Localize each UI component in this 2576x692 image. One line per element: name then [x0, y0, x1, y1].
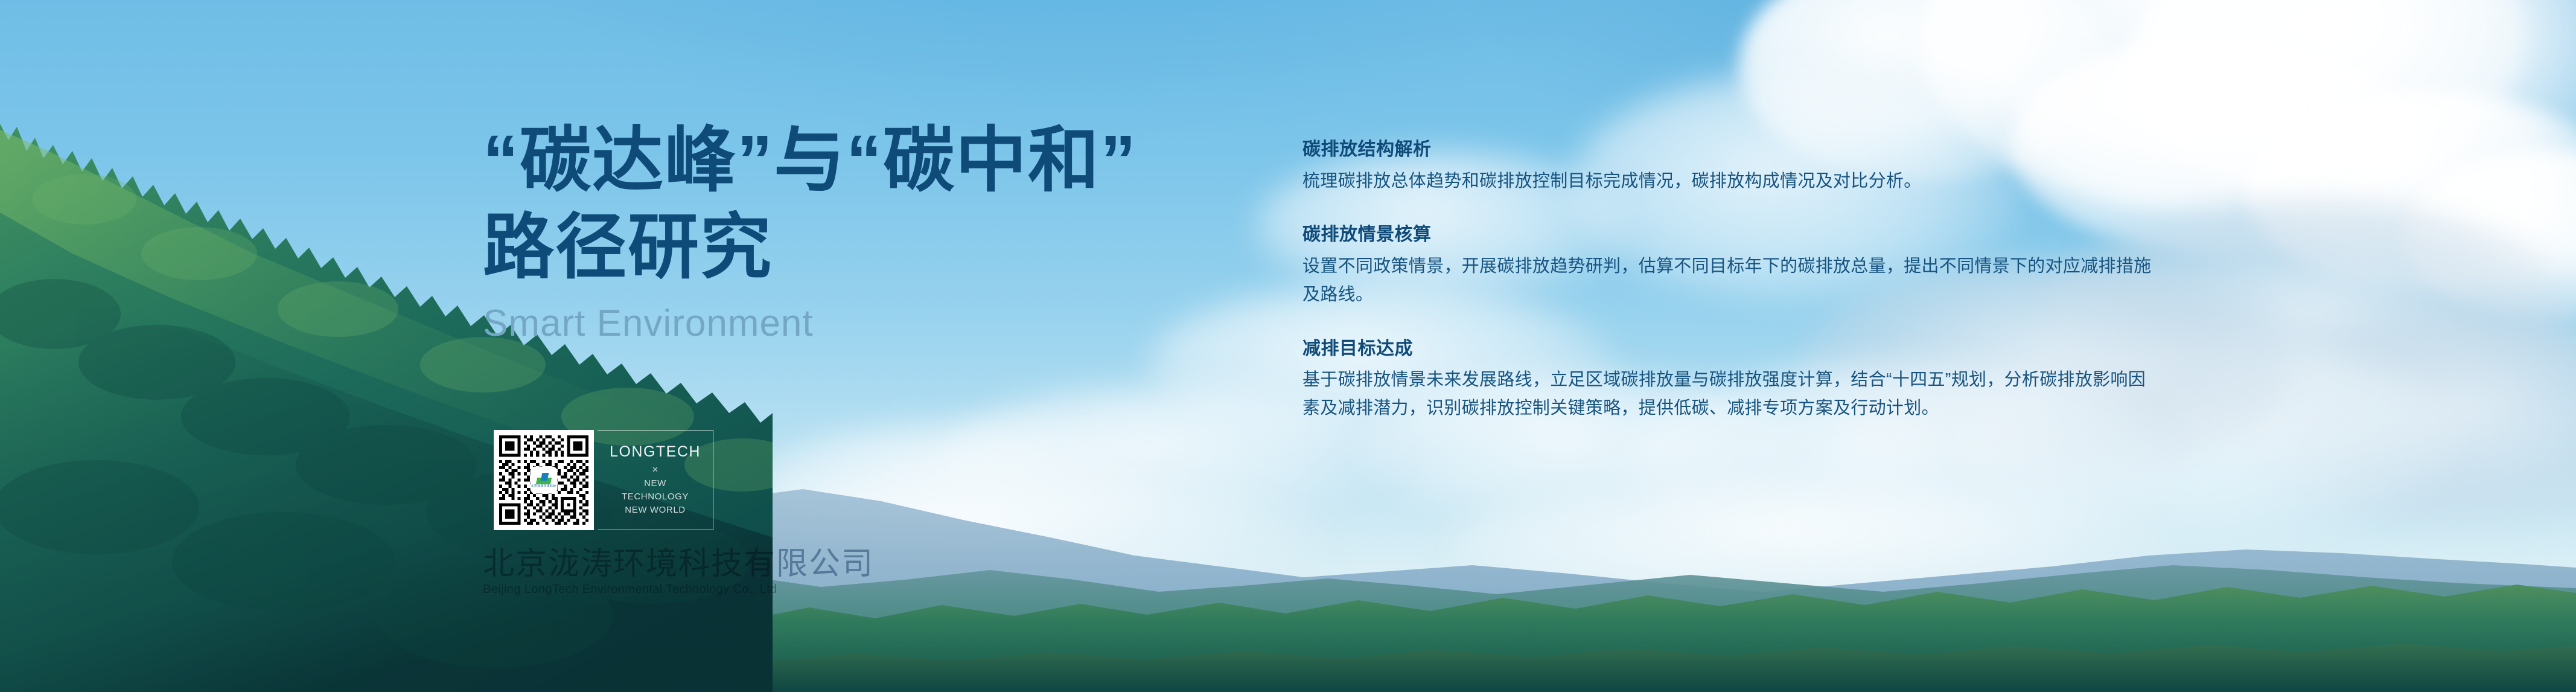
watermark-en: Beijing LongTech Environmental Technolog…	[483, 583, 874, 596]
info-body: 梳理碳排放总体趋势和碳排放控制目标完成情况，碳排放构成情况及对比分析。	[1302, 167, 2160, 196]
title-line-1: “碳达峰”与“碳中和”	[483, 118, 1219, 205]
slogan-panel: LONGTECH × NEW TECHNOLOGY NEW WORLD	[598, 430, 713, 530]
watermark-cn: 北京泷涛环境科技有限公司	[483, 548, 874, 580]
slogan-sub-3: NEW WORLD	[625, 505, 685, 516]
hero-banner: “碳达峰”与“碳中和” 路径研究 Smart Environment	[0, 0, 2576, 692]
slogan-cross-icon: ×	[652, 464, 658, 475]
title-line-2: 路径研究	[483, 205, 1219, 292]
title-subtitle: Smart Environment	[483, 305, 1219, 342]
company-watermark: 北京泷涛环境科技有限公司 Beijing LongTech Environmen…	[483, 548, 874, 596]
qr-code[interactable]: 北京泷涛环境科技	[494, 430, 594, 530]
info-heading: 碳排放结构解析	[1302, 138, 2160, 162]
longtech-logo-icon	[537, 473, 551, 484]
qr-logo-text-cn: 北京泷涛环境科技	[531, 484, 556, 488]
page-title: “碳达峰”与“碳中和” 路径研究 Smart Environment	[483, 118, 1219, 342]
info-heading: 减排目标达成	[1302, 337, 2160, 362]
qr-center-logo: 北京泷涛环境科技	[531, 467, 556, 493]
slogan-brand: LONGTECH	[610, 444, 701, 460]
slogan-sub-1: NEW	[644, 478, 666, 489]
info-item: 减排目标达成 基于碳排放情景未来发展路线，立足区域碳排放量与碳排放强度计算，结合…	[1302, 337, 2160, 423]
info-column: 碳排放结构解析 梳理碳排放总体趋势和碳排放控制目标完成情况，碳排放构成情况及对比…	[1302, 138, 2160, 423]
info-body: 基于碳排放情景未来发展路线，立足区域碳排放量与碳排放强度计算，结合“十四五”规划…	[1302, 366, 2160, 423]
info-body: 设置不同政策情景，开展碳排放趋势研判，估算不同目标年下的碳排放总量，提出不同情景…	[1302, 252, 2160, 309]
info-item: 碳排放情景核算 设置不同政策情景，开展碳排放趋势研判，估算不同目标年下的碳排放总…	[1302, 223, 2160, 309]
info-heading: 碳排放情景核算	[1302, 223, 2160, 248]
info-item: 碳排放结构解析 梳理碳排放总体趋势和碳排放控制目标完成情况，碳排放构成情况及对比…	[1302, 138, 2160, 195]
slogan-sub-2: TECHNOLOGY	[622, 492, 689, 502]
brand-block: 北京泷涛环境科技 LONGTECH × NEW TECHNOLOGY NEW W…	[494, 430, 713, 530]
